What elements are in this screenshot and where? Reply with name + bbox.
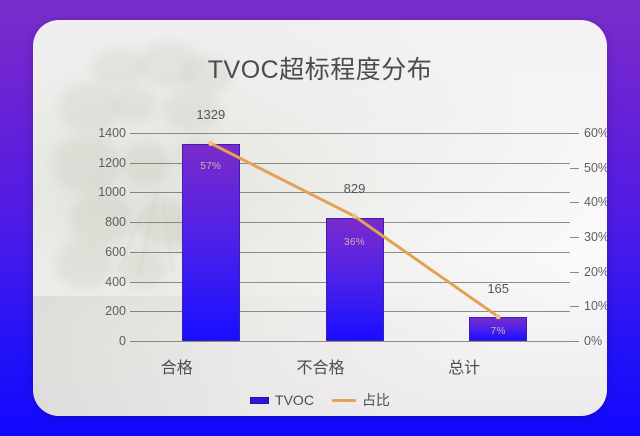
legend-line-swatch-icon: [332, 399, 356, 402]
axis-tick-left: [130, 133, 139, 134]
x-axis-category-不合格: 不合格: [266, 354, 376, 378]
y-axis-right-tick-20: 20%: [584, 266, 607, 279]
axis-tick-right: [570, 341, 579, 342]
bar-合格[interactable]: 57%: [182, 144, 240, 342]
gridline: [139, 341, 570, 342]
axis-tick-right: [570, 306, 579, 307]
bar-value-label: 829: [310, 181, 400, 196]
axis-tick-left: [130, 252, 139, 253]
axis-tick-right: [570, 202, 579, 203]
legend-item-ratio[interactable]: 占比: [332, 390, 390, 410]
y-axis-right-tick-10: 10%: [584, 300, 607, 313]
y-axis-right-tick-0: 0%: [584, 335, 602, 348]
y-axis-left-tick-1200: 1200: [98, 157, 126, 170]
legend-label-tvoc: TVOC: [275, 392, 314, 408]
bar-percent-label: 36%: [327, 237, 383, 248]
bar-总计[interactable]: 7%: [469, 317, 527, 342]
gridline: [139, 133, 570, 134]
y-axis-left-tick-0: 0: [119, 335, 126, 348]
bar-percent-label: 7%: [470, 326, 526, 337]
axis-tick-left: [130, 192, 139, 193]
axis-tick-left: [130, 163, 139, 164]
axis-tick-left: [130, 282, 139, 283]
axis-tick-left: [130, 222, 139, 223]
legend-label-ratio: 占比: [362, 390, 390, 410]
axis-tick-right: [570, 168, 579, 169]
y-axis-left-tick-200: 200: [105, 305, 126, 318]
slide-card: TVOC超标程度分布 1400 1200 1000 800 600 400 20…: [33, 20, 607, 416]
y-axis-left-tick-400: 400: [105, 276, 126, 289]
axis-tick-right: [570, 272, 579, 273]
page-title: TVOC超标程度分布: [33, 50, 607, 86]
axis-tick-right: [570, 133, 579, 134]
bar-percent-label: 57%: [183, 161, 239, 172]
axis-tick-left: [130, 311, 139, 312]
y-axis-right-tick-40: 40%: [584, 196, 607, 209]
chart-legend: TVOC 占比: [33, 390, 607, 410]
legend-item-tvoc[interactable]: TVOC: [250, 392, 314, 408]
y-axis-left-tick-1400: 1400: [98, 127, 126, 140]
y-axis-left-tick-1000: 1000: [98, 186, 126, 199]
bar-不合格[interactable]: 36%: [326, 218, 384, 341]
y-axis-left-tick-800: 800: [105, 216, 126, 229]
x-axis-category-合格: 合格: [122, 354, 232, 378]
y-axis-right-tick-60: 60%: [584, 127, 607, 140]
y-axis-left-tick-600: 600: [105, 246, 126, 259]
y-axis-right-tick-50: 50%: [584, 162, 607, 175]
y-axis-right-tick-30: 30%: [584, 231, 607, 244]
legend-bar-swatch-icon: [250, 397, 269, 404]
bar-value-label: 1329: [166, 107, 256, 122]
chart-plot-area: 1400 1200 1000 800 600 400 200 0 60% 50%…: [139, 133, 570, 341]
bar-value-label: 165: [453, 281, 543, 296]
axis-tick-left: [130, 341, 139, 342]
x-axis-category-总计: 总计: [409, 354, 519, 378]
axis-tick-right: [570, 237, 579, 238]
